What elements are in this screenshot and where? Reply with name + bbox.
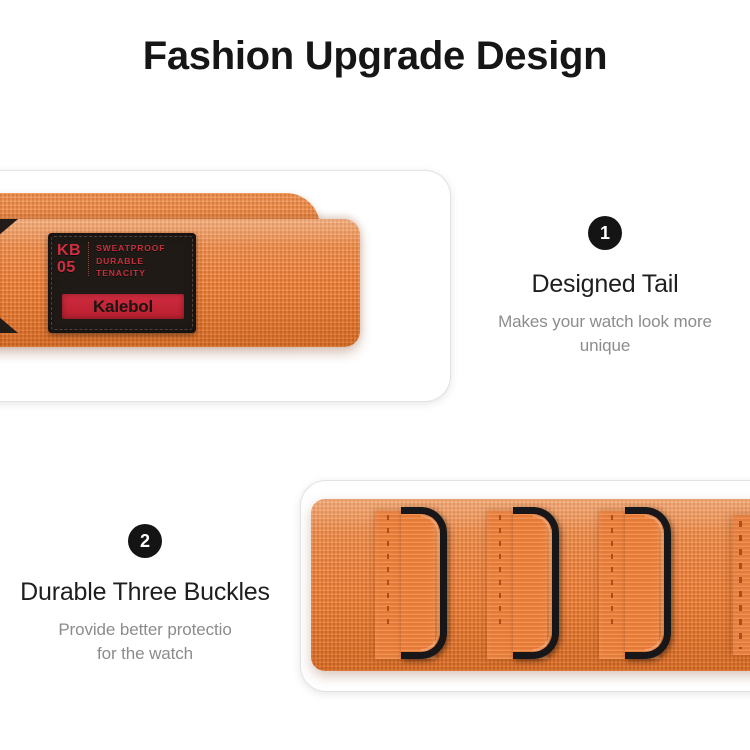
feature-block-designed-tail: 1 Designed Tail Makes your watch look mo… — [460, 216, 750, 358]
brand-name: Kalebol — [93, 298, 153, 315]
brand-label-features: SWEATPROOF DURABLE TENACITY — [89, 242, 165, 280]
brand-label-feature-tenacity: TENACITY — [96, 267, 165, 280]
feature-badge-1: 1 — [588, 216, 622, 250]
feature-heading-1: Designed Tail — [460, 269, 750, 299]
feature-subtitle-2: Provide better protectio for the watch — [0, 618, 290, 666]
infographic-page: Fashion Upgrade Design KB 0 — [0, 0, 750, 750]
brand-label-feature-durable: DURABLE — [96, 255, 165, 268]
brand-label-feature-sweatproof: SWEATPROOF — [96, 242, 165, 255]
feature-heading-2: Durable Three Buckles — [0, 577, 290, 607]
tail-patch-stitch-line — [739, 521, 742, 649]
brand-name-box: Kalebol — [62, 294, 184, 319]
feature-subtitle-2-line1: Provide better protectio — [0, 618, 290, 642]
brand-label-top-row: KB 05 SWEATPROOF DURABLE TENACITY — [57, 242, 188, 280]
brand-label-code: KB 05 — [57, 242, 89, 276]
feature-badge-2: 2 — [128, 524, 162, 558]
page-title: Fashion Upgrade Design — [0, 30, 750, 82]
feature-subtitle-1: Makes your watch look more unique — [460, 310, 750, 358]
feature-subtitle-2-line2: for the watch — [0, 642, 290, 666]
brand-label-code-line2: 05 — [57, 259, 81, 276]
buckle-icon-1 — [401, 507, 447, 659]
brand-label: KB 05 SWEATPROOF DURABLE TENACITY Kalebo… — [48, 233, 196, 333]
feature-subtitle-1-line2: unique — [460, 334, 750, 358]
buckle-icon-3 — [625, 507, 671, 659]
buckle-icon-2 — [513, 507, 559, 659]
brand-label-code-line1: KB — [57, 242, 81, 259]
product-photo-designed-tail: KB 05 SWEATPROOF DURABLE TENACITY Kalebo… — [0, 170, 451, 402]
product-photo-three-buckles — [300, 480, 750, 692]
feature-block-three-buckles: 2 Durable Three Buckles Provide better p… — [0, 524, 290, 666]
feature-subtitle-1-line1: Makes your watch look more — [460, 310, 750, 334]
